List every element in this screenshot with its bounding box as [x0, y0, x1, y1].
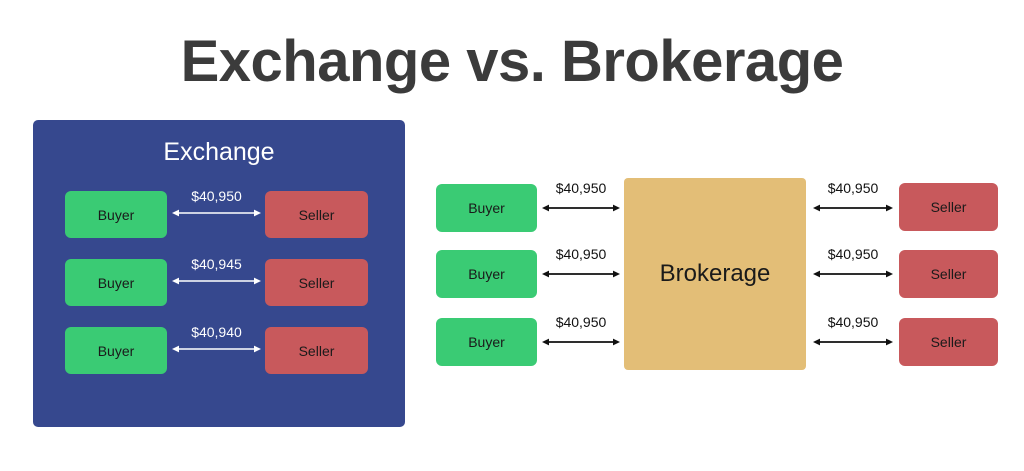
exchange-buyer-box-2[interactable]: Buyer [65, 259, 167, 306]
brokerage-seller-label-1: Seller [931, 199, 967, 215]
brokerage-buyer-arrow-1 [542, 202, 620, 218]
brokerage-seller-box-2[interactable]: Seller [899, 250, 998, 298]
brokerage-label: Brokerage [660, 260, 771, 288]
exchange-price-label-3: $40,940 [172, 324, 261, 341]
exchange-buyer-label-2: Buyer [98, 275, 135, 291]
brokerage-buyer-price-3: $40,950 [537, 314, 625, 331]
brokerage-buyer-box-3[interactable]: Buyer [436, 318, 537, 366]
brokerage-seller-arrow-3 [813, 336, 893, 352]
brokerage-box[interactable]: Brokerage [624, 178, 806, 370]
exchange-seller-box-2[interactable]: Seller [265, 259, 368, 306]
exchange-buyer-label-3: Buyer [98, 343, 135, 359]
brokerage-buyer-price-1: $40,950 [537, 180, 625, 197]
exchange-arrow-2 [172, 275, 261, 291]
brokerage-seller-label-3: Seller [931, 334, 967, 350]
page-title: Exchange vs. Brokerage [0, 26, 1024, 98]
brokerage-seller-box-3[interactable]: Seller [899, 318, 998, 366]
brokerage-seller-price-1: $40,950 [809, 180, 897, 197]
brokerage-seller-label-2: Seller [931, 266, 967, 282]
brokerage-seller-price-2: $40,950 [809, 246, 897, 263]
exchange-seller-box-3[interactable]: Seller [265, 327, 368, 374]
brokerage-seller-arrow-1 [813, 202, 893, 218]
exchange-price-label-2: $40,945 [172, 256, 261, 273]
exchange-buyer-box-1[interactable]: Buyer [65, 191, 167, 238]
brokerage-buyer-arrow-3 [542, 336, 620, 352]
exchange-seller-box-1[interactable]: Seller [265, 191, 368, 238]
brokerage-buyer-box-2[interactable]: Buyer [436, 250, 537, 298]
exchange-seller-label-2: Seller [299, 275, 335, 291]
brokerage-buyer-label-3: Buyer [468, 334, 505, 350]
brokerage-seller-box-1[interactable]: Seller [899, 183, 998, 231]
exchange-buyer-box-3[interactable]: Buyer [65, 327, 167, 374]
brokerage-seller-price-3: $40,950 [809, 314, 897, 331]
exchange-seller-label-3: Seller [299, 343, 335, 359]
diagram-canvas: Exchange vs. Brokerage Exchange Buyer $4… [0, 0, 1024, 471]
brokerage-buyer-label-1: Buyer [468, 200, 505, 216]
brokerage-buyer-label-2: Buyer [468, 266, 505, 282]
exchange-price-label-1: $40,950 [172, 188, 261, 205]
exchange-arrow-3 [172, 343, 261, 359]
exchange-arrow-1 [172, 207, 261, 223]
exchange-panel-title: Exchange [33, 137, 405, 167]
exchange-seller-label-1: Seller [299, 207, 335, 223]
brokerage-buyer-box-1[interactable]: Buyer [436, 184, 537, 232]
exchange-buyer-label-1: Buyer [98, 207, 135, 223]
brokerage-seller-arrow-2 [813, 268, 893, 284]
brokerage-buyer-price-2: $40,950 [537, 246, 625, 263]
brokerage-buyer-arrow-2 [542, 268, 620, 284]
